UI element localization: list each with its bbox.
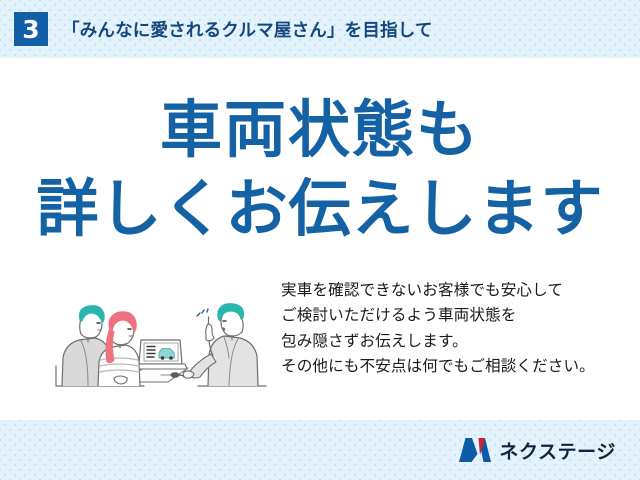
illustration-and-copy-row: 実車を確認できないお客様でも安心して ご検討いただけるよう車両状態を 包み隠さず… [0,276,640,406]
header-title: 「みんなに愛されるクルマ屋さん」を目指して [62,17,433,42]
body-copy-line-1: 実車を確認できないお客様でも安心して [281,278,640,303]
brand-lockup: ネクステージ [458,437,616,464]
step-number-badge: 3 [14,12,48,46]
body-copy: 実車を確認できないお客様でも安心して ご検討いただけるよう車両状態を 包み隠さず… [281,278,640,379]
body-copy-line-4: その他にも不安点は何でもご相談ください。 [281,354,640,379]
content-panel: 車両状態も 詳しくお伝えします [0,58,640,420]
headline: 車両状態も 詳しくお伝えします [0,100,640,241]
consultation-illustration [48,282,273,402]
header-band: 3 「みんなに愛されるクルマ屋さん」を目指して [0,0,640,58]
headline-line-2: 詳しくお伝えします [0,179,640,241]
footer-band: ネクステージ [0,420,640,480]
body-copy-line-2: ご検討いただけるよう車両状態を [281,303,640,328]
nextage-n-logo-icon [458,437,492,463]
brand-wordmark: ネクステージ [499,437,616,464]
advertisement-canvas: 3 「みんなに愛されるクルマ屋さん」を目指して 車両状態も 詳しくお伝えします [0,0,640,480]
headline-line-1: 車両状態も [0,100,640,162]
body-copy-line-3: 包み隠さずお伝えします。 [281,329,640,354]
